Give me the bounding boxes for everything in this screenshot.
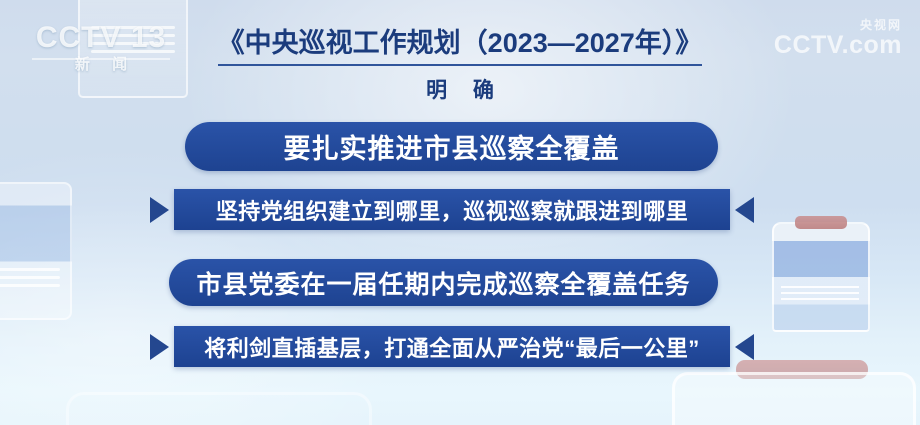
banner-row-1: 要扎实推进市县巡察全覆盖 xyxy=(185,122,718,171)
banner-row-3: 市县党委在一届任期内完成巡察全覆盖任务 xyxy=(169,259,718,306)
decorative-line xyxy=(0,268,60,271)
decorative-line xyxy=(781,286,859,288)
banner-3-text: 市县党委在一届任期内完成巡察全覆盖任务 xyxy=(169,259,718,306)
decorative-card-bottom-right xyxy=(672,372,916,425)
decorative-line xyxy=(0,284,60,287)
arrow-left-icon xyxy=(735,197,754,223)
banner-2-text: 坚持党组织建立到哪里，巡视巡察就跟进到哪里 xyxy=(174,189,730,230)
arrow-right-icon xyxy=(150,334,169,360)
broadcast-graphic-slide: CCTV 13 新 闻 央视网 CCTV.com 《中央巡视工作规划（2023—… xyxy=(0,0,920,425)
banner-1-text: 要扎实推进市县巡察全覆盖 xyxy=(185,122,718,171)
arrow-right-icon xyxy=(150,197,169,223)
banner-4-text: 将利剑直插基层，打通全面从严治党“最后一公里” xyxy=(174,326,730,367)
page-subtitle: 明 确 xyxy=(0,74,920,104)
decorative-bar-red xyxy=(736,360,868,379)
clipboard-body xyxy=(772,222,870,332)
decorative-line xyxy=(781,298,859,300)
decorative-clipboard-right xyxy=(772,216,870,332)
page-title: 《中央巡视工作规划（2023—2027年）》 xyxy=(218,26,703,66)
banner-row-2: 坚持党组织建立到哪里，巡视巡察就跟进到哪里 xyxy=(150,189,754,230)
headline-block: 《中央巡视工作规划（2023—2027年）》 明 确 xyxy=(0,26,920,104)
decorative-line xyxy=(781,292,859,294)
arrow-left-icon xyxy=(735,334,754,360)
decorative-line xyxy=(0,276,60,279)
clipboard-clip xyxy=(795,216,847,229)
decorative-card-left xyxy=(0,182,72,320)
decorative-rounded-shape-bottom-left xyxy=(66,392,372,425)
banner-row-4: 将利剑直插基层，打通全面从严治党“最后一公里” xyxy=(150,326,754,367)
